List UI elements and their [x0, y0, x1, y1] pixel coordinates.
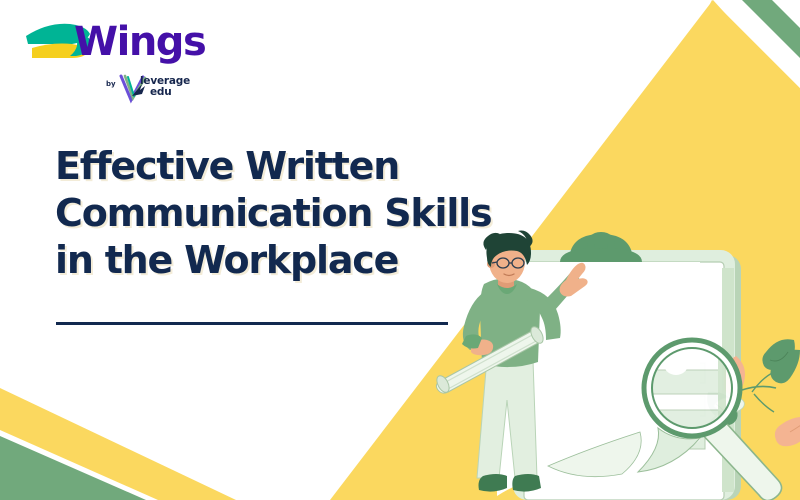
wings-logo[interactable]: Wings by leverage edu	[18, 14, 198, 106]
title-divider	[56, 322, 448, 325]
title-line-3: in the Workplace	[55, 237, 555, 284]
edu-label: edu	[150, 87, 172, 97]
shoe-right	[512, 474, 541, 492]
leverage-edu-logo[interactable]: by leverage edu	[106, 72, 198, 106]
leaf-peach-right	[775, 417, 800, 446]
page-title: Effective Written Communication Skills i…	[55, 143, 555, 284]
wings-wordmark: Wings	[74, 22, 205, 62]
leverage-label: leverage	[140, 76, 190, 86]
title-line-1: Effective Written	[55, 143, 555, 190]
logo-by-label: by	[106, 80, 116, 88]
banner-canvas: Wings by leverage edu Effective Written …	[0, 0, 800, 500]
title-line-2: Communication Skills	[55, 190, 555, 237]
shoe-left	[479, 474, 508, 492]
